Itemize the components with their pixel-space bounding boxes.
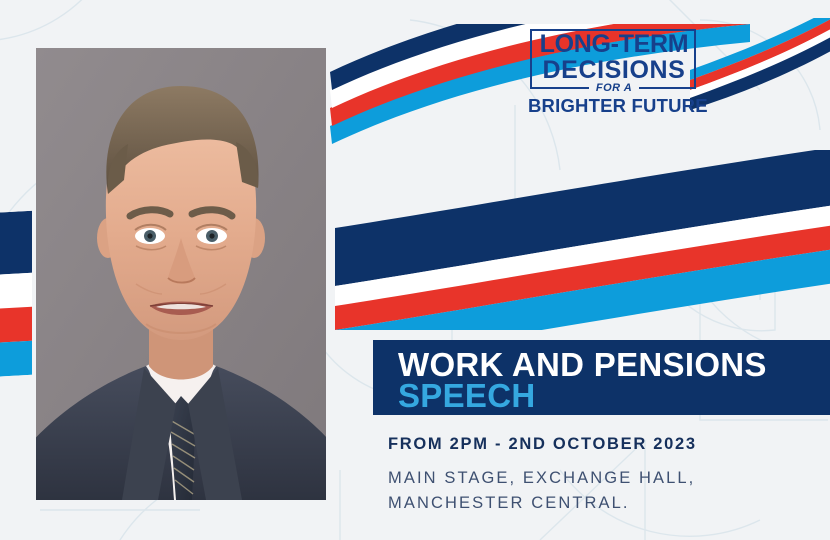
logo-connector-text: FOR A	[589, 82, 639, 94]
event-venue-line1: MAIN STAGE, EXCHANGE HALL,	[388, 466, 828, 492]
stripe-white	[0, 273, 32, 310]
event-title-secondary: SPEECH	[398, 378, 536, 414]
event-venue: MAIN STAGE, EXCHANGE HALL, MANCHESTER CE…	[388, 466, 828, 517]
stripe-red	[0, 307, 32, 344]
logo-connector-for-a: FOR A	[528, 83, 700, 94]
stripe-navy	[0, 211, 32, 276]
logo-line-brighter-future: BRIGHTER FUTURE	[528, 97, 700, 116]
logo-line-long-term: LONG-TERM	[528, 32, 700, 57]
left-edge-stripe-block	[0, 211, 32, 378]
long-term-decisions-logo: LONG-TERM DECISIONS FOR A BRIGHTER FUTUR…	[528, 26, 700, 114]
poster-canvas: LONG-TERM DECISIONS FOR A BRIGHTER FUTUR…	[0, 0, 830, 540]
logo-line-decisions: DECISIONS	[528, 58, 700, 83]
stripe-light-blue	[0, 341, 32, 378]
ribbon-top-right	[690, 18, 830, 110]
event-title-banner: WORK AND PENSIONS SPEECH	[373, 340, 830, 415]
speaker-portrait	[36, 48, 326, 500]
event-datetime: FROM 2PM - 2ND OCTOBER 2023	[388, 436, 828, 453]
event-venue-line2: MANCHESTER CENTRAL.	[388, 491, 828, 517]
event-details: FROM 2PM - 2ND OCTOBER 2023 MAIN STAGE, …	[388, 436, 828, 517]
ribbon-main	[335, 150, 830, 330]
